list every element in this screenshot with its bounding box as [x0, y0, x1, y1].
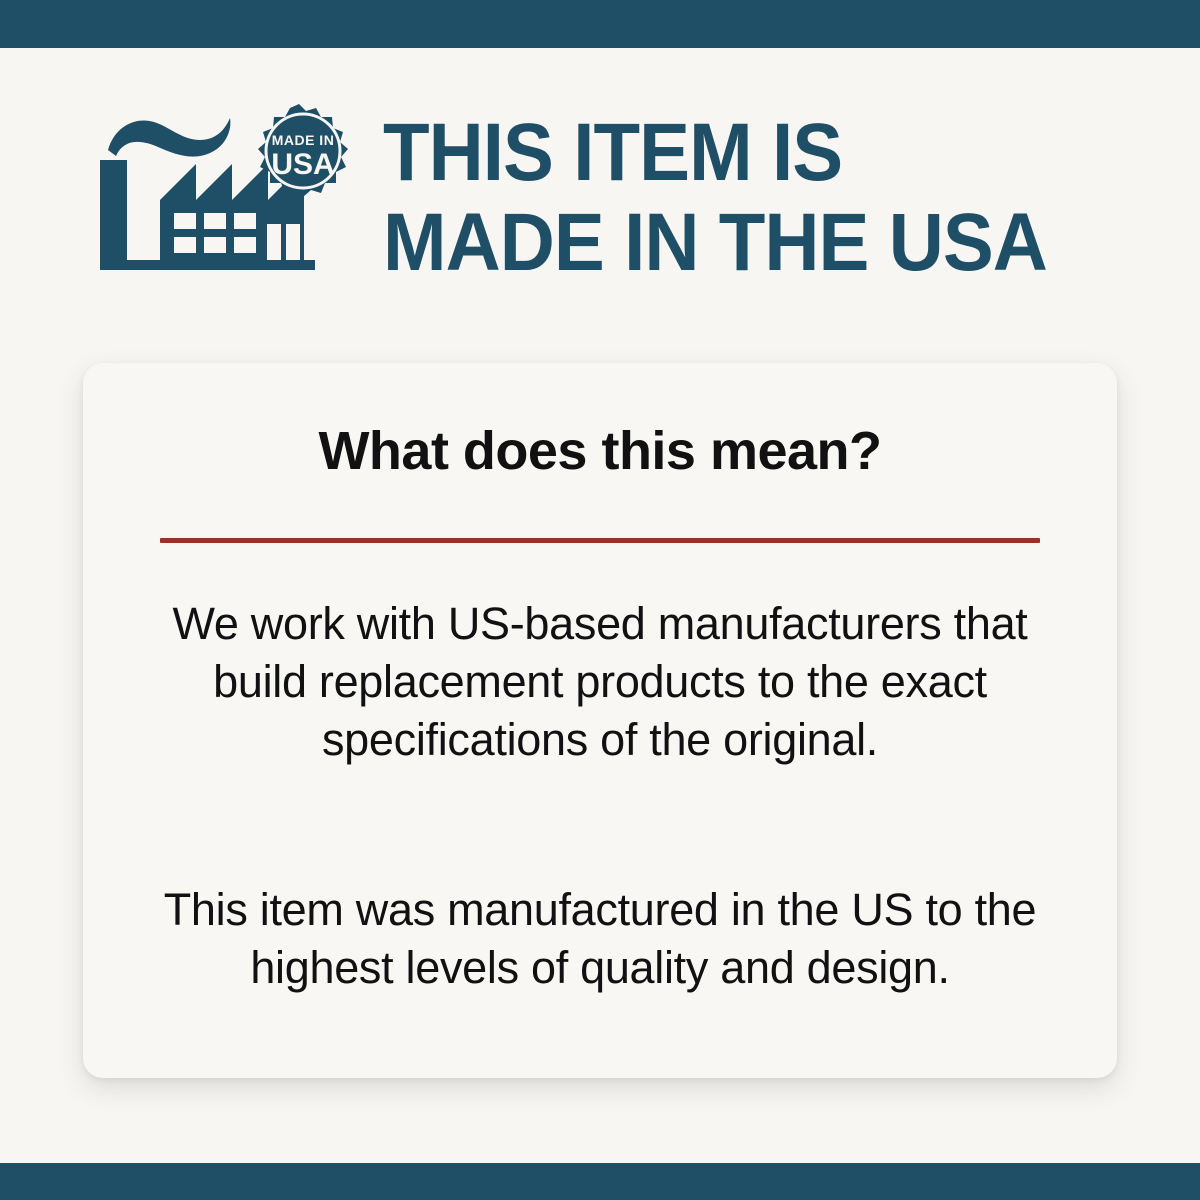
page-title-line-2: MADE IN THE USA — [383, 198, 1118, 288]
factory-base — [100, 260, 315, 270]
card-paragraph-1: We work with US-based manufacturers that… — [150, 595, 1050, 769]
bottom-accent-bar — [0, 1163, 1200, 1200]
explanation-card: What does this mean? We work with US-bas… — [83, 363, 1117, 1078]
page-title: THIS ITEM IS MADE IN THE USA — [383, 108, 1173, 288]
page-title-line-1: THIS ITEM IS — [383, 108, 1118, 198]
chimney-shape — [100, 160, 127, 268]
card-heading: What does this mean? — [83, 421, 1117, 481]
factory-badge-logo: MADE IN USA — [100, 100, 350, 278]
header: MADE IN USA THIS ITEM IS MADE IN THE USA — [0, 48, 1200, 298]
smoke-plume-icon — [108, 118, 230, 157]
card-paragraph-2: This item was manufactured in the US to … — [150, 881, 1050, 997]
svg-text:MADE IN: MADE IN — [272, 132, 335, 148]
made-in-usa-badge: MADE IN USA — [258, 104, 348, 197]
made-in-usa-banner: MADE IN USA THIS ITEM IS MADE IN THE USA… — [0, 0, 1200, 1200]
top-accent-bar — [0, 0, 1200, 48]
svg-text:USA: USA — [271, 148, 334, 181]
heading-divider — [160, 538, 1040, 543]
